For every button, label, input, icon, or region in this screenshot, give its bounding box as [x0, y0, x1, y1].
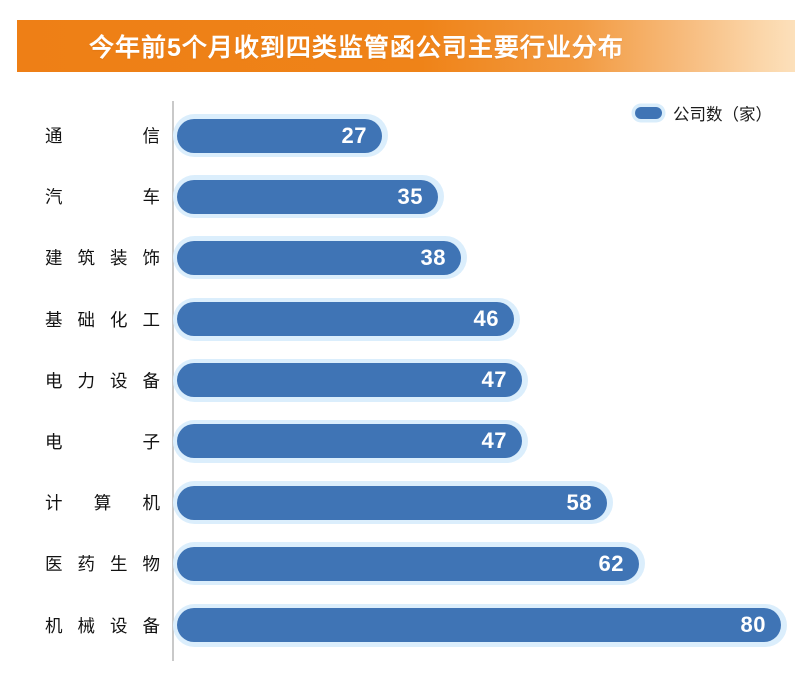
- category-label-text: 计算机: [45, 490, 160, 515]
- bar-value-label: 62: [599, 551, 639, 577]
- bar-container[interactable]: 47: [173, 420, 528, 463]
- bar-row: 机械设备80: [0, 595, 800, 656]
- bar-row: 电子47: [0, 411, 800, 472]
- category-label-text: 通信: [45, 123, 160, 148]
- bar-value-label: 47: [482, 367, 522, 393]
- bar-value-label: 47: [482, 428, 522, 454]
- chart-page: 今年前5个月收到四类监管函公司主要行业分布 公司数（家） 通信27汽车35建筑装…: [0, 0, 800, 692]
- bar-fill[interactable]: 58: [177, 486, 607, 520]
- category-label: 电子: [45, 411, 160, 472]
- bar-container[interactable]: 38: [173, 236, 467, 279]
- page-title: 今年前5个月收到四类监管函公司主要行业分布: [89, 28, 624, 64]
- category-label: 汽车: [45, 166, 160, 227]
- category-label: 通信: [45, 105, 160, 166]
- category-label: 计算机: [45, 472, 160, 533]
- bar-fill[interactable]: 62: [177, 547, 639, 581]
- category-label: 建筑装饰: [45, 227, 160, 288]
- bar-row: 通信27: [0, 105, 800, 166]
- category-label-text: 医药生物: [45, 551, 160, 576]
- bar-fill[interactable]: 27: [177, 119, 382, 153]
- bar-fill[interactable]: 46: [177, 302, 514, 336]
- chart-title-banner: 今年前5个月收到四类监管函公司主要行业分布: [17, 20, 795, 72]
- category-label-text: 基础化工: [45, 307, 160, 332]
- bar-row: 医药生物62: [0, 533, 800, 594]
- bar-row: 计算机58: [0, 472, 800, 533]
- bar-row: 电力设备47: [0, 350, 800, 411]
- bar-value-label: 35: [398, 184, 438, 210]
- category-label-text: 机械设备: [45, 613, 160, 638]
- category-label: 医药生物: [45, 533, 160, 594]
- bar-fill[interactable]: 47: [177, 424, 522, 458]
- bar-value-label: 80: [741, 612, 781, 638]
- bar-row: 基础化工46: [0, 289, 800, 350]
- bar-rows: 通信27汽车35建筑装饰38基础化工46电力设备47电子47计算机58医药生物6…: [0, 105, 800, 656]
- category-label-text: 电子: [45, 429, 160, 454]
- bar-fill[interactable]: 35: [177, 180, 438, 214]
- category-label-text: 建筑装饰: [45, 245, 160, 270]
- bar-value-label: 38: [421, 245, 461, 271]
- bar-row: 汽车35: [0, 166, 800, 227]
- bar-value-label: 58: [567, 490, 607, 516]
- bar-container[interactable]: 80: [173, 604, 787, 647]
- bar-fill[interactable]: 47: [177, 363, 522, 397]
- category-label-text: 电力设备: [45, 368, 160, 393]
- category-label-text: 汽车: [45, 184, 160, 209]
- bar-fill[interactable]: 80: [177, 608, 781, 642]
- bar-row: 建筑装饰38: [0, 227, 800, 288]
- bar-container[interactable]: 35: [173, 175, 444, 218]
- bar-container[interactable]: 47: [173, 359, 528, 402]
- bar-container[interactable]: 27: [173, 114, 388, 157]
- category-label: 电力设备: [45, 350, 160, 411]
- bar-container[interactable]: 46: [173, 298, 520, 341]
- bar-fill[interactable]: 38: [177, 241, 461, 275]
- category-label: 基础化工: [45, 289, 160, 350]
- bar-value-label: 46: [474, 306, 514, 332]
- bar-value-label: 27: [342, 123, 382, 149]
- category-label: 机械设备: [45, 595, 160, 656]
- bar-container[interactable]: 58: [173, 481, 613, 524]
- bar-container[interactable]: 62: [173, 542, 645, 585]
